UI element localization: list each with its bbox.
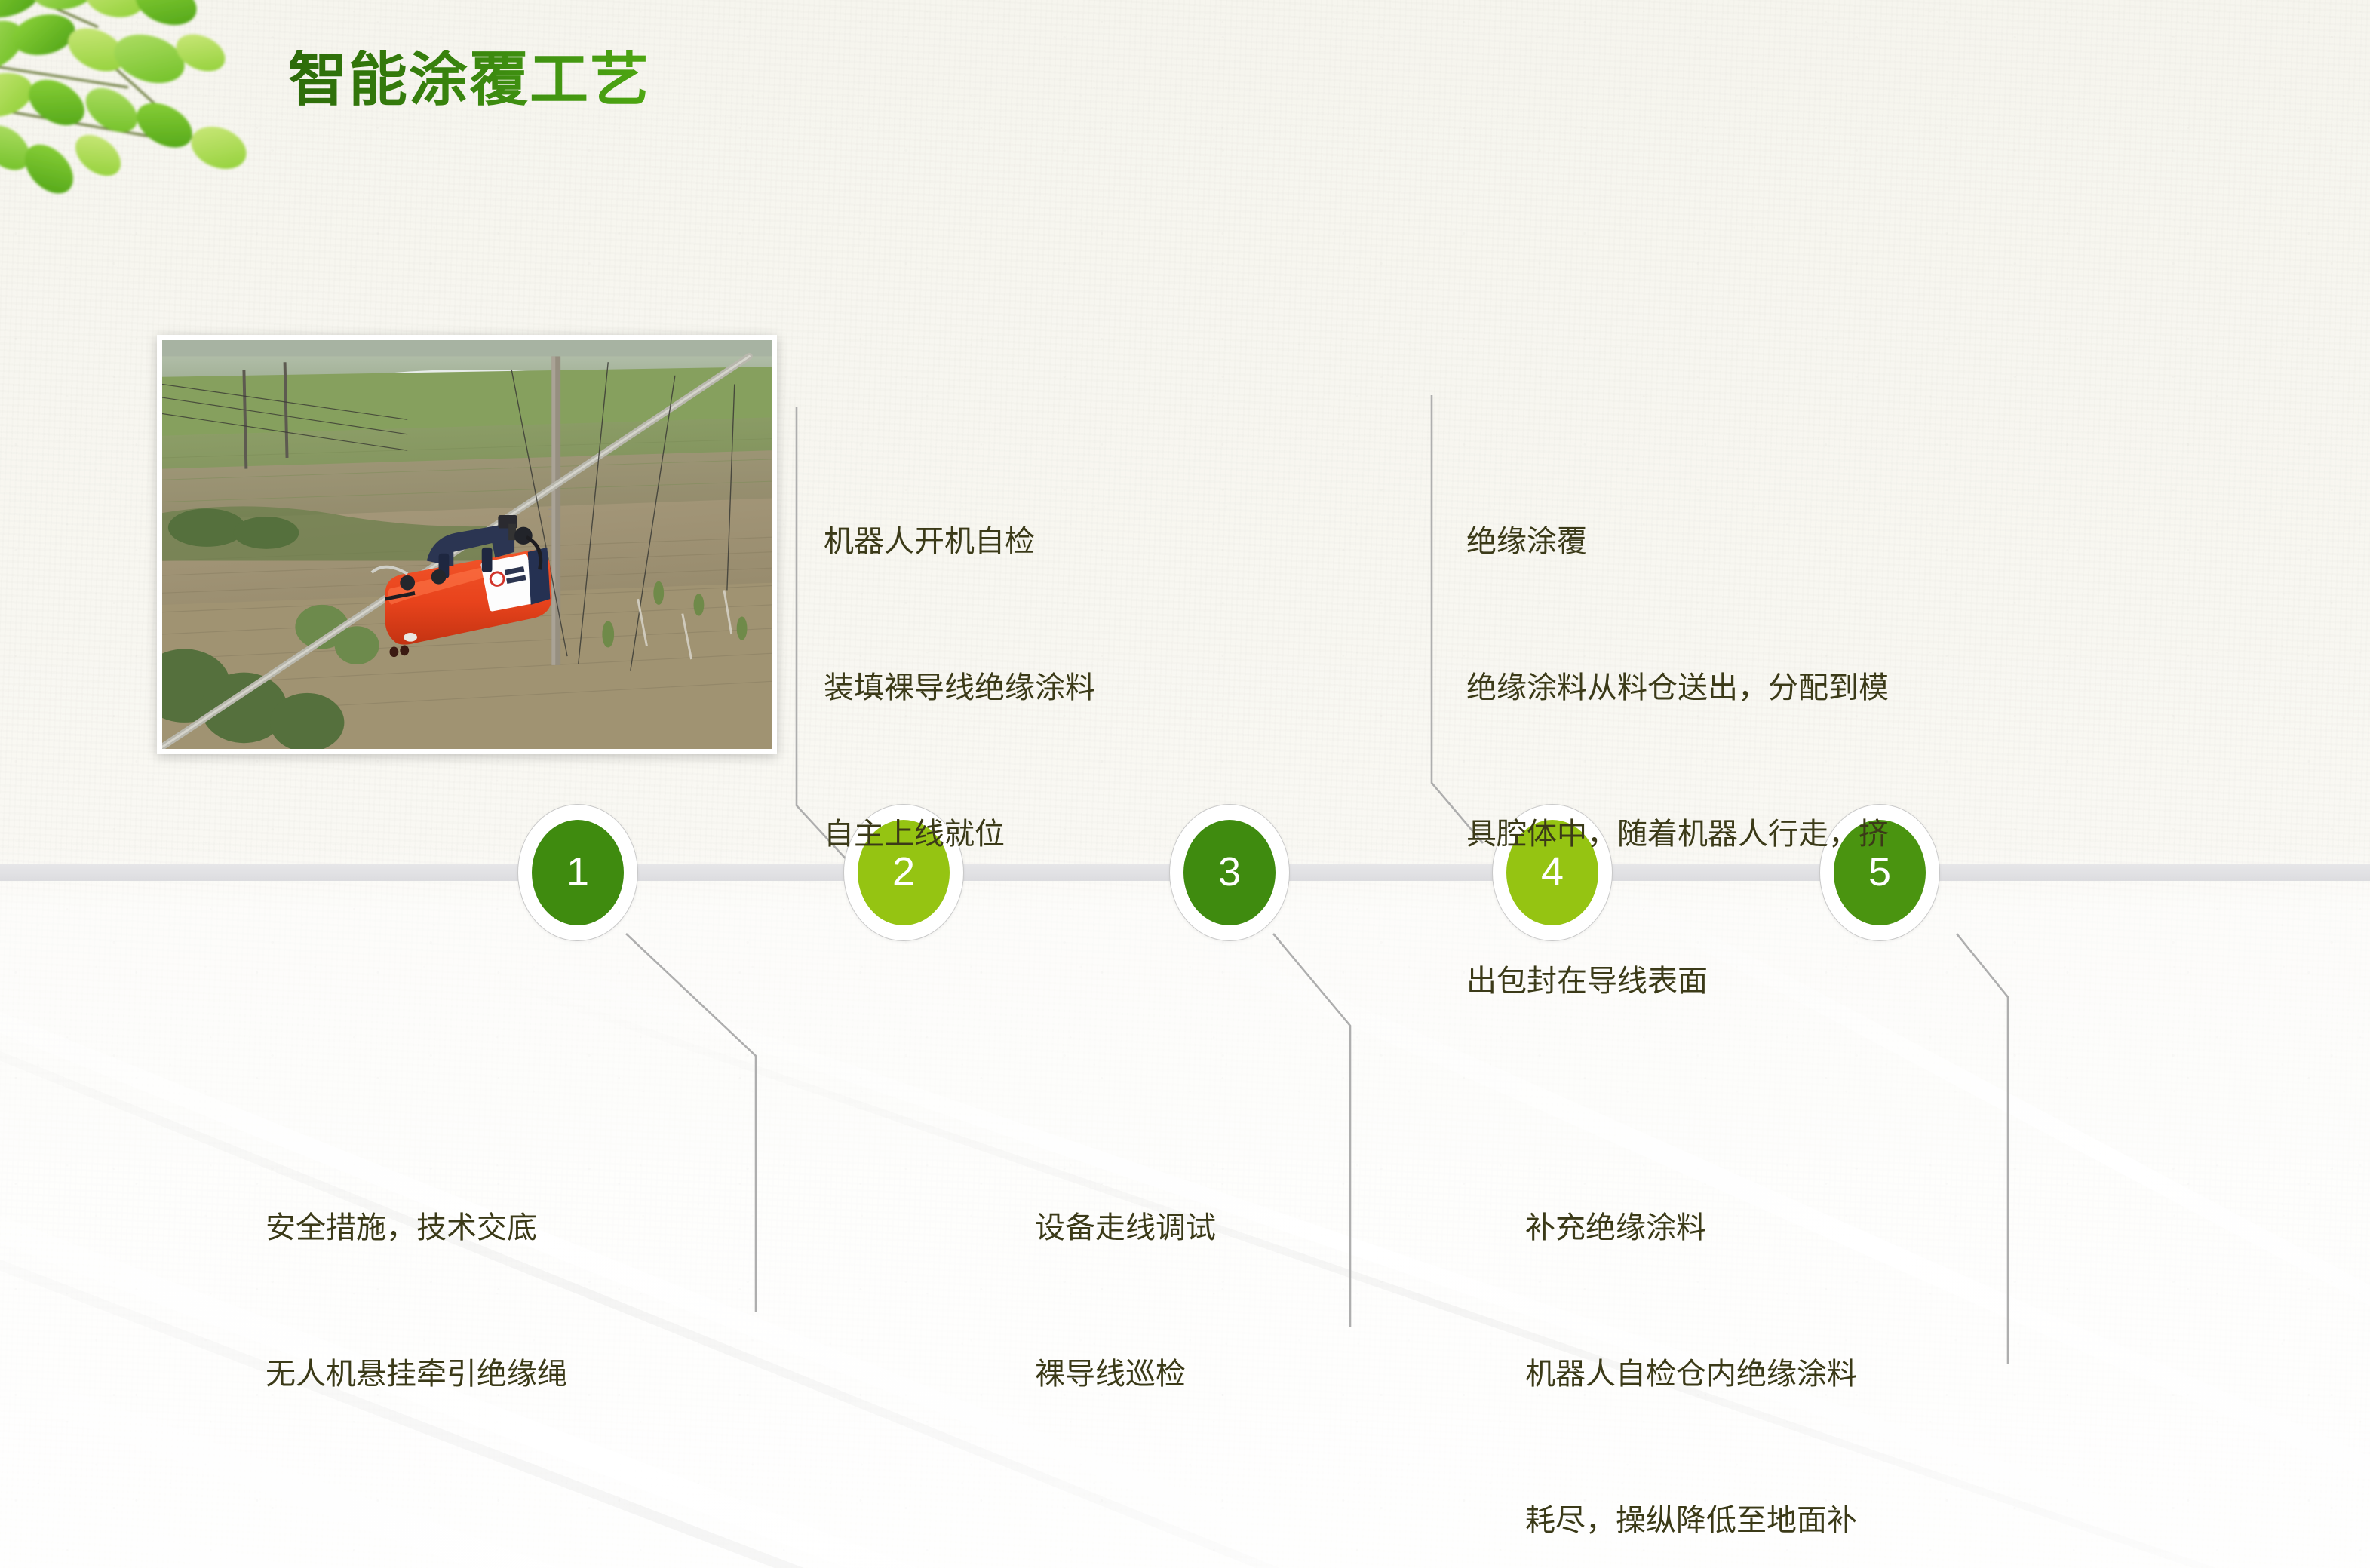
- step-number: 3: [1218, 852, 1241, 894]
- step-4-line-2: 绝缘涂料从料仓送出，分配到模: [1466, 664, 1889, 713]
- step-5-line-3: 耗尽，操纵降低至地面补: [1525, 1496, 1857, 1545]
- step-5-description: 补充绝缘涂料 机器人自检仓内绝缘涂料 耗尽，操纵降低至地面补 料；然后再上线涂覆: [1525, 1106, 1857, 1568]
- background-shade: [0, 929, 1517, 1568]
- step-2-line-3: 自主上线就位: [824, 810, 1095, 859]
- step-number: 1: [566, 852, 589, 894]
- step-disc: 1: [532, 820, 624, 925]
- step-disc: 3: [1183, 820, 1276, 925]
- timeline-step-1[interactable]: 1: [517, 804, 638, 941]
- step-2-line-1: 机器人开机自检: [824, 517, 1095, 566]
- step-2-description: 机器人开机自检 装填裸导线绝缘涂料 自主上线就位: [824, 419, 1095, 957]
- timeline-step-3[interactable]: 3: [1169, 804, 1290, 941]
- page-title: 智能涂覆工艺: [288, 50, 650, 109]
- step-4-description: 绝缘涂覆 绝缘涂料从料仓送出，分配到模 具腔体中，随着机器人行走，挤 出包封在导…: [1466, 419, 1889, 1103]
- background-shade: [0, 1115, 1736, 1568]
- background-shade: [450, 961, 2370, 1568]
- step-1-description: 安全措施，技术交底 无人机悬挂牵引绝缘绳: [266, 1106, 567, 1496]
- step-3-line-1: 设备走线调试: [1035, 1204, 1216, 1253]
- step-2-line-2: 装填裸导线绝缘涂料: [824, 664, 1095, 713]
- step-1-line-2: 无人机悬挂牵引绝缘绳: [266, 1350, 567, 1399]
- robot-on-power-line-photo: [157, 335, 777, 754]
- step-3-line-2: 裸导线巡检: [1035, 1350, 1216, 1399]
- background-streak: [0, 890, 1517, 1568]
- slide-canvas: 智能涂覆工艺: [0, 0, 2370, 1568]
- step-5-line-2: 机器人自检仓内绝缘涂料: [1525, 1350, 1857, 1399]
- step-3-description: 设备走线调试 裸导线巡检: [1035, 1106, 1216, 1496]
- step-4-line-1: 绝缘涂覆: [1466, 517, 1889, 566]
- step-1-line-1: 安全措施，技术交底: [266, 1204, 567, 1253]
- step-4-line-3: 具腔体中，随着机器人行走，挤: [1466, 810, 1889, 859]
- leaf-branch-icon: [0, 0, 279, 246]
- background-streak: [0, 1071, 1736, 1568]
- step-5-line-1: 补充绝缘涂料: [1525, 1204, 1857, 1253]
- step-4-line-4: 出包封在导线表面: [1466, 957, 1889, 1006]
- background-streak: [447, 928, 2370, 1568]
